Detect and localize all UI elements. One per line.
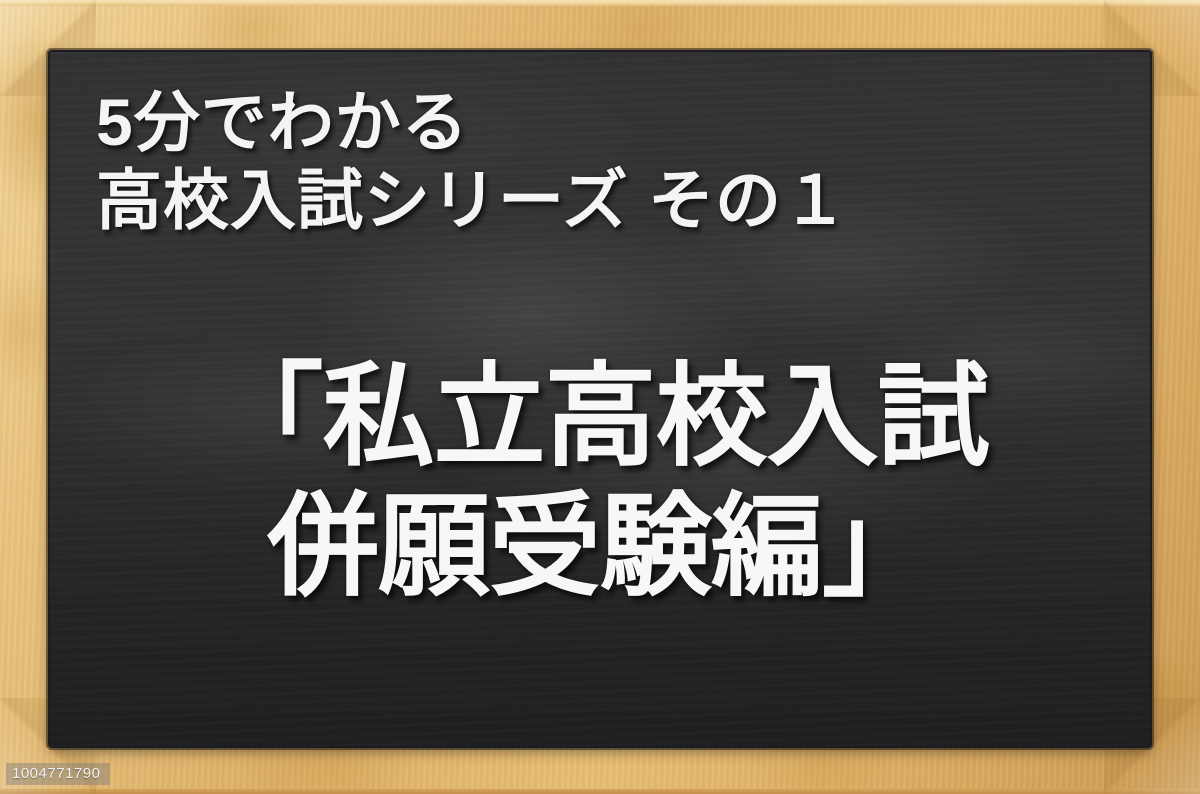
main-headline-line-1: 「私立高校入試 — [50, 352, 1150, 482]
title-card-canvas: 5分でわかる 高校入試シリーズ その１ 「私立高校入試 併願受験編」 10047… — [0, 0, 1200, 794]
chalkboard: 5分でわかる 高校入試シリーズ その１ 「私立高校入試 併願受験編」 — [50, 52, 1150, 746]
main-headline-line-2: 併願受験編」 — [50, 482, 1150, 612]
series-subtitle-line-2: 高校入試シリーズ その１ — [96, 162, 1116, 240]
series-subtitle: 5分でわかる 高校入試シリーズ その１ — [96, 84, 1116, 240]
stock-id-watermark: 1004771790 — [6, 763, 110, 785]
frame-top-highlight — [0, 0, 1200, 6]
main-headline: 「私立高校入試 併願受験編」 — [50, 352, 1150, 612]
series-subtitle-line-1: 5分でわかる — [96, 84, 1116, 162]
chalkboard-content: 5分でわかる 高校入試シリーズ その１ 「私立高校入試 併願受験編」 — [50, 52, 1150, 746]
frame-bottom-shadow — [0, 789, 1200, 794]
